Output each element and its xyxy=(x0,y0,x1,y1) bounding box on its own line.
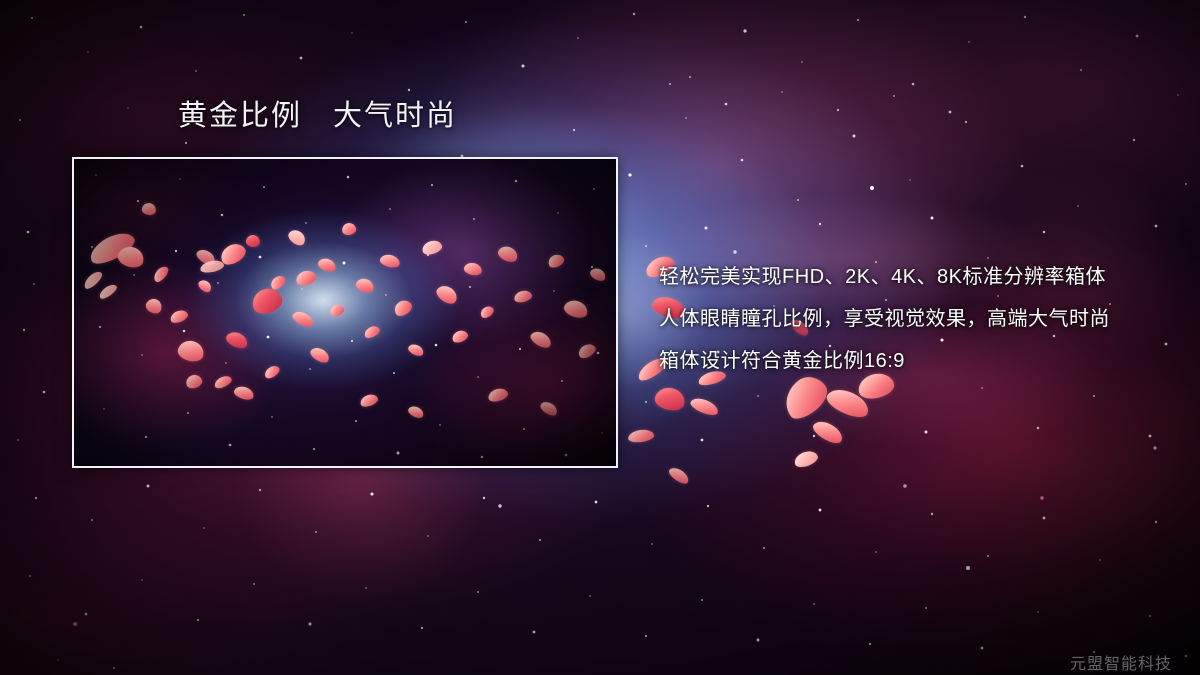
presentation-slide: 黄金比例 大气时尚 xyxy=(0,0,1200,675)
body-line-3: 箱体设计符合黄金比例16:9 xyxy=(659,340,1110,382)
page-title: 黄金比例 大气时尚 xyxy=(178,102,457,131)
body-copy: 轻松完美实现FHD、2K、4K、8K标准分辨率箱体 人体眼睛瞳孔比例，享受视觉效… xyxy=(659,256,1110,382)
body-line-1: 轻松完美实现FHD、2K、4K、8K标准分辨率箱体 xyxy=(659,256,1110,298)
watermark: 元盟智能科技 xyxy=(1070,650,1172,674)
photo-image xyxy=(74,159,616,466)
body-line-2: 人体眼睛瞳孔比例，享受视觉效果，高端大气时尚 xyxy=(659,298,1110,340)
photo-vignette xyxy=(74,159,616,466)
framed-photo xyxy=(72,157,618,468)
